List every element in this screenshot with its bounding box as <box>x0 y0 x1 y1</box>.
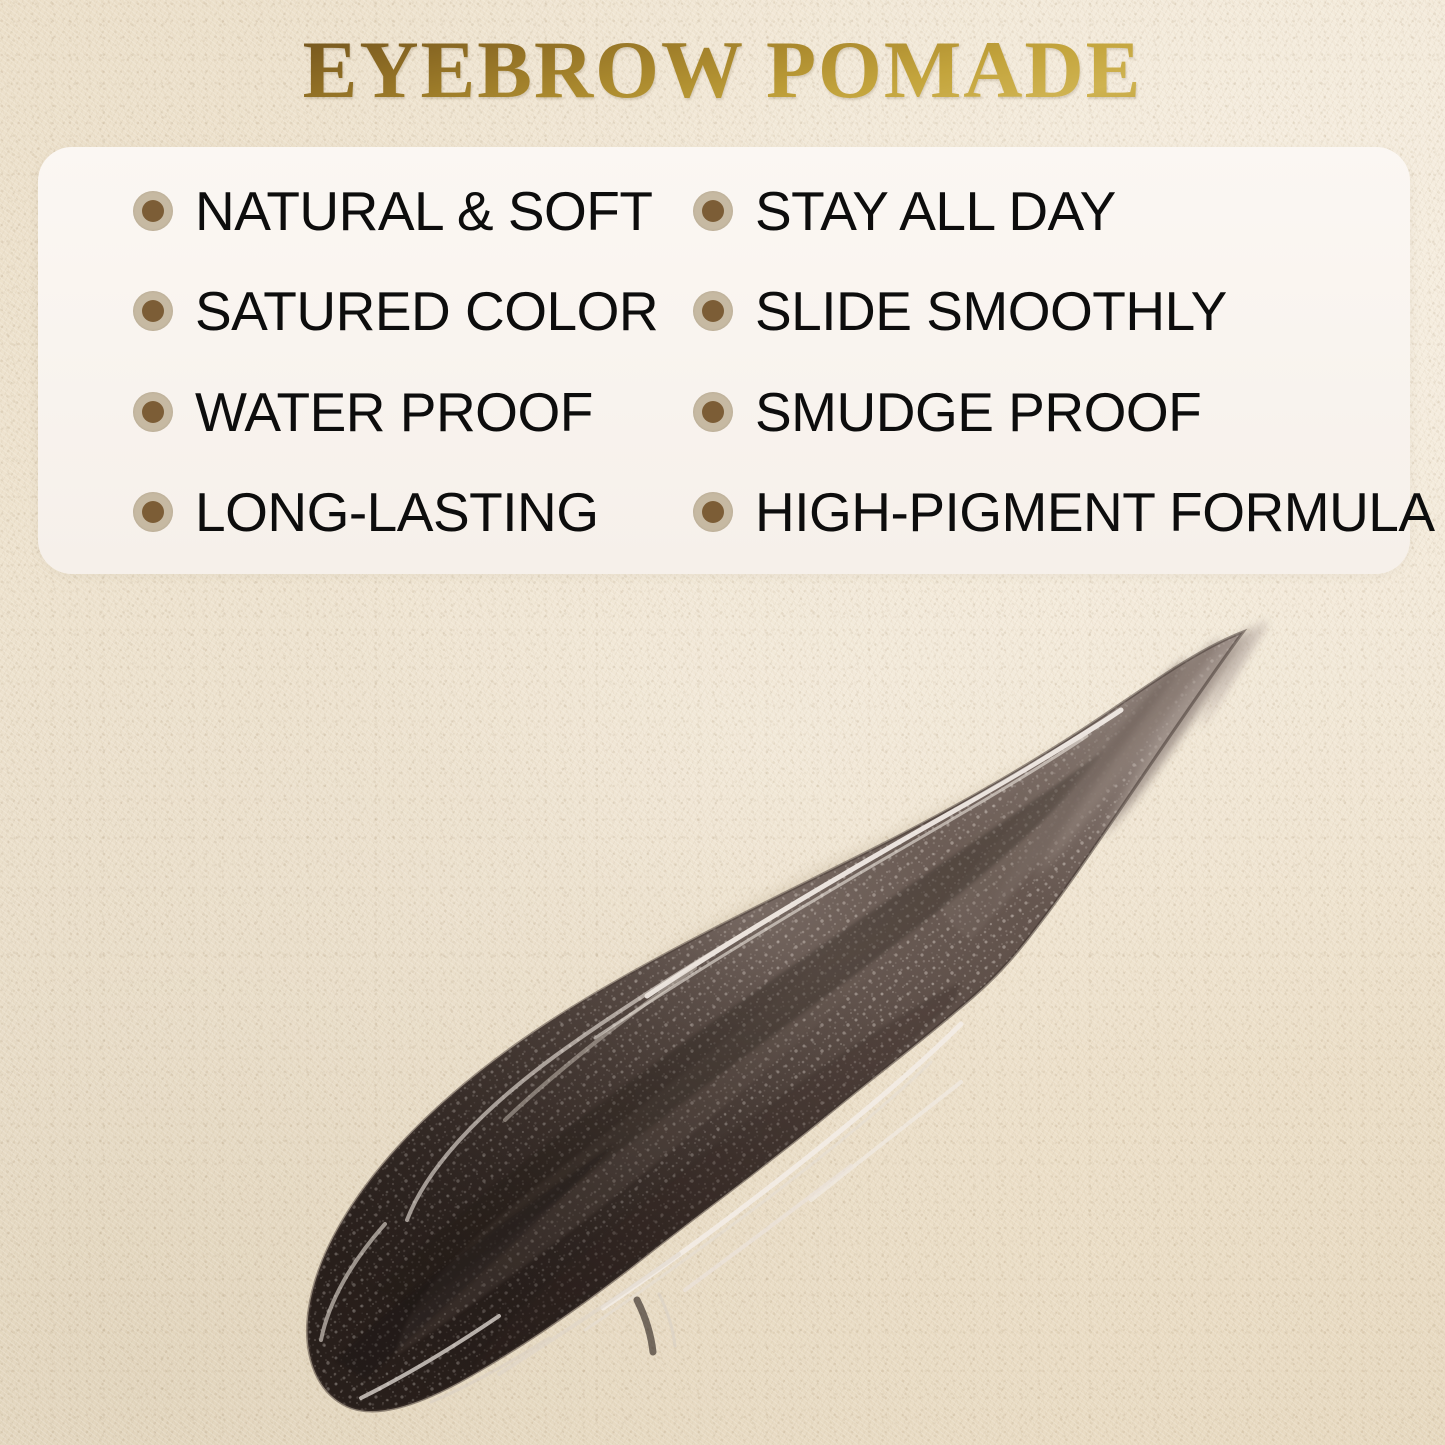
feature-label: SATURED COLOR <box>195 281 658 341</box>
features-grid: NATURAL & SOFT STAY ALL DAY SATURED COLO… <box>38 147 1410 574</box>
features-card: NATURAL & SOFT STAY ALL DAY SATURED COLO… <box>38 147 1410 574</box>
page-title: EYEBROW POMADE <box>0 20 1445 120</box>
bullet-dot-icon <box>693 492 733 532</box>
feature-label: WATER PROOF <box>195 382 593 442</box>
bullet-dot-icon <box>133 392 173 432</box>
bullet-dot-icon <box>693 191 733 231</box>
bullet-dot-icon <box>133 291 173 331</box>
feature-label: LONG-LASTING <box>195 482 599 542</box>
pomade-smear-swatch <box>255 600 1315 1440</box>
feature-item-smudge-proof: SMUDGE PROOF <box>693 362 1410 462</box>
feature-item-stay-all-day: STAY ALL DAY <box>693 161 1410 261</box>
feature-item-water-proof: WATER PROOF <box>38 362 693 462</box>
feature-item-high-pigment-formula: HIGH-PIGMENT FORMULA <box>693 462 1410 562</box>
bullet-dot-icon <box>693 392 733 432</box>
bullet-dot-icon <box>133 191 173 231</box>
bullet-dot-icon <box>693 291 733 331</box>
feature-item-slide-smoothly: SLIDE SMOOTHLY <box>693 261 1410 361</box>
bullet-dot-icon <box>133 492 173 532</box>
feature-label: SMUDGE PROOF <box>755 382 1201 442</box>
feature-item-natural-soft: NATURAL & SOFT <box>38 161 693 261</box>
feature-label: SLIDE SMOOTHLY <box>755 281 1227 341</box>
feature-label: HIGH-PIGMENT FORMULA <box>755 482 1435 542</box>
feature-label: NATURAL & SOFT <box>195 181 653 241</box>
product-marketing-image: EYEBROW POMADE NATURAL & SOFT STAY ALL D… <box>0 0 1445 1445</box>
feature-item-satured-color: SATURED COLOR <box>38 261 693 361</box>
feature-item-long-lasting: LONG-LASTING <box>38 462 693 562</box>
feature-label: STAY ALL DAY <box>755 181 1116 241</box>
